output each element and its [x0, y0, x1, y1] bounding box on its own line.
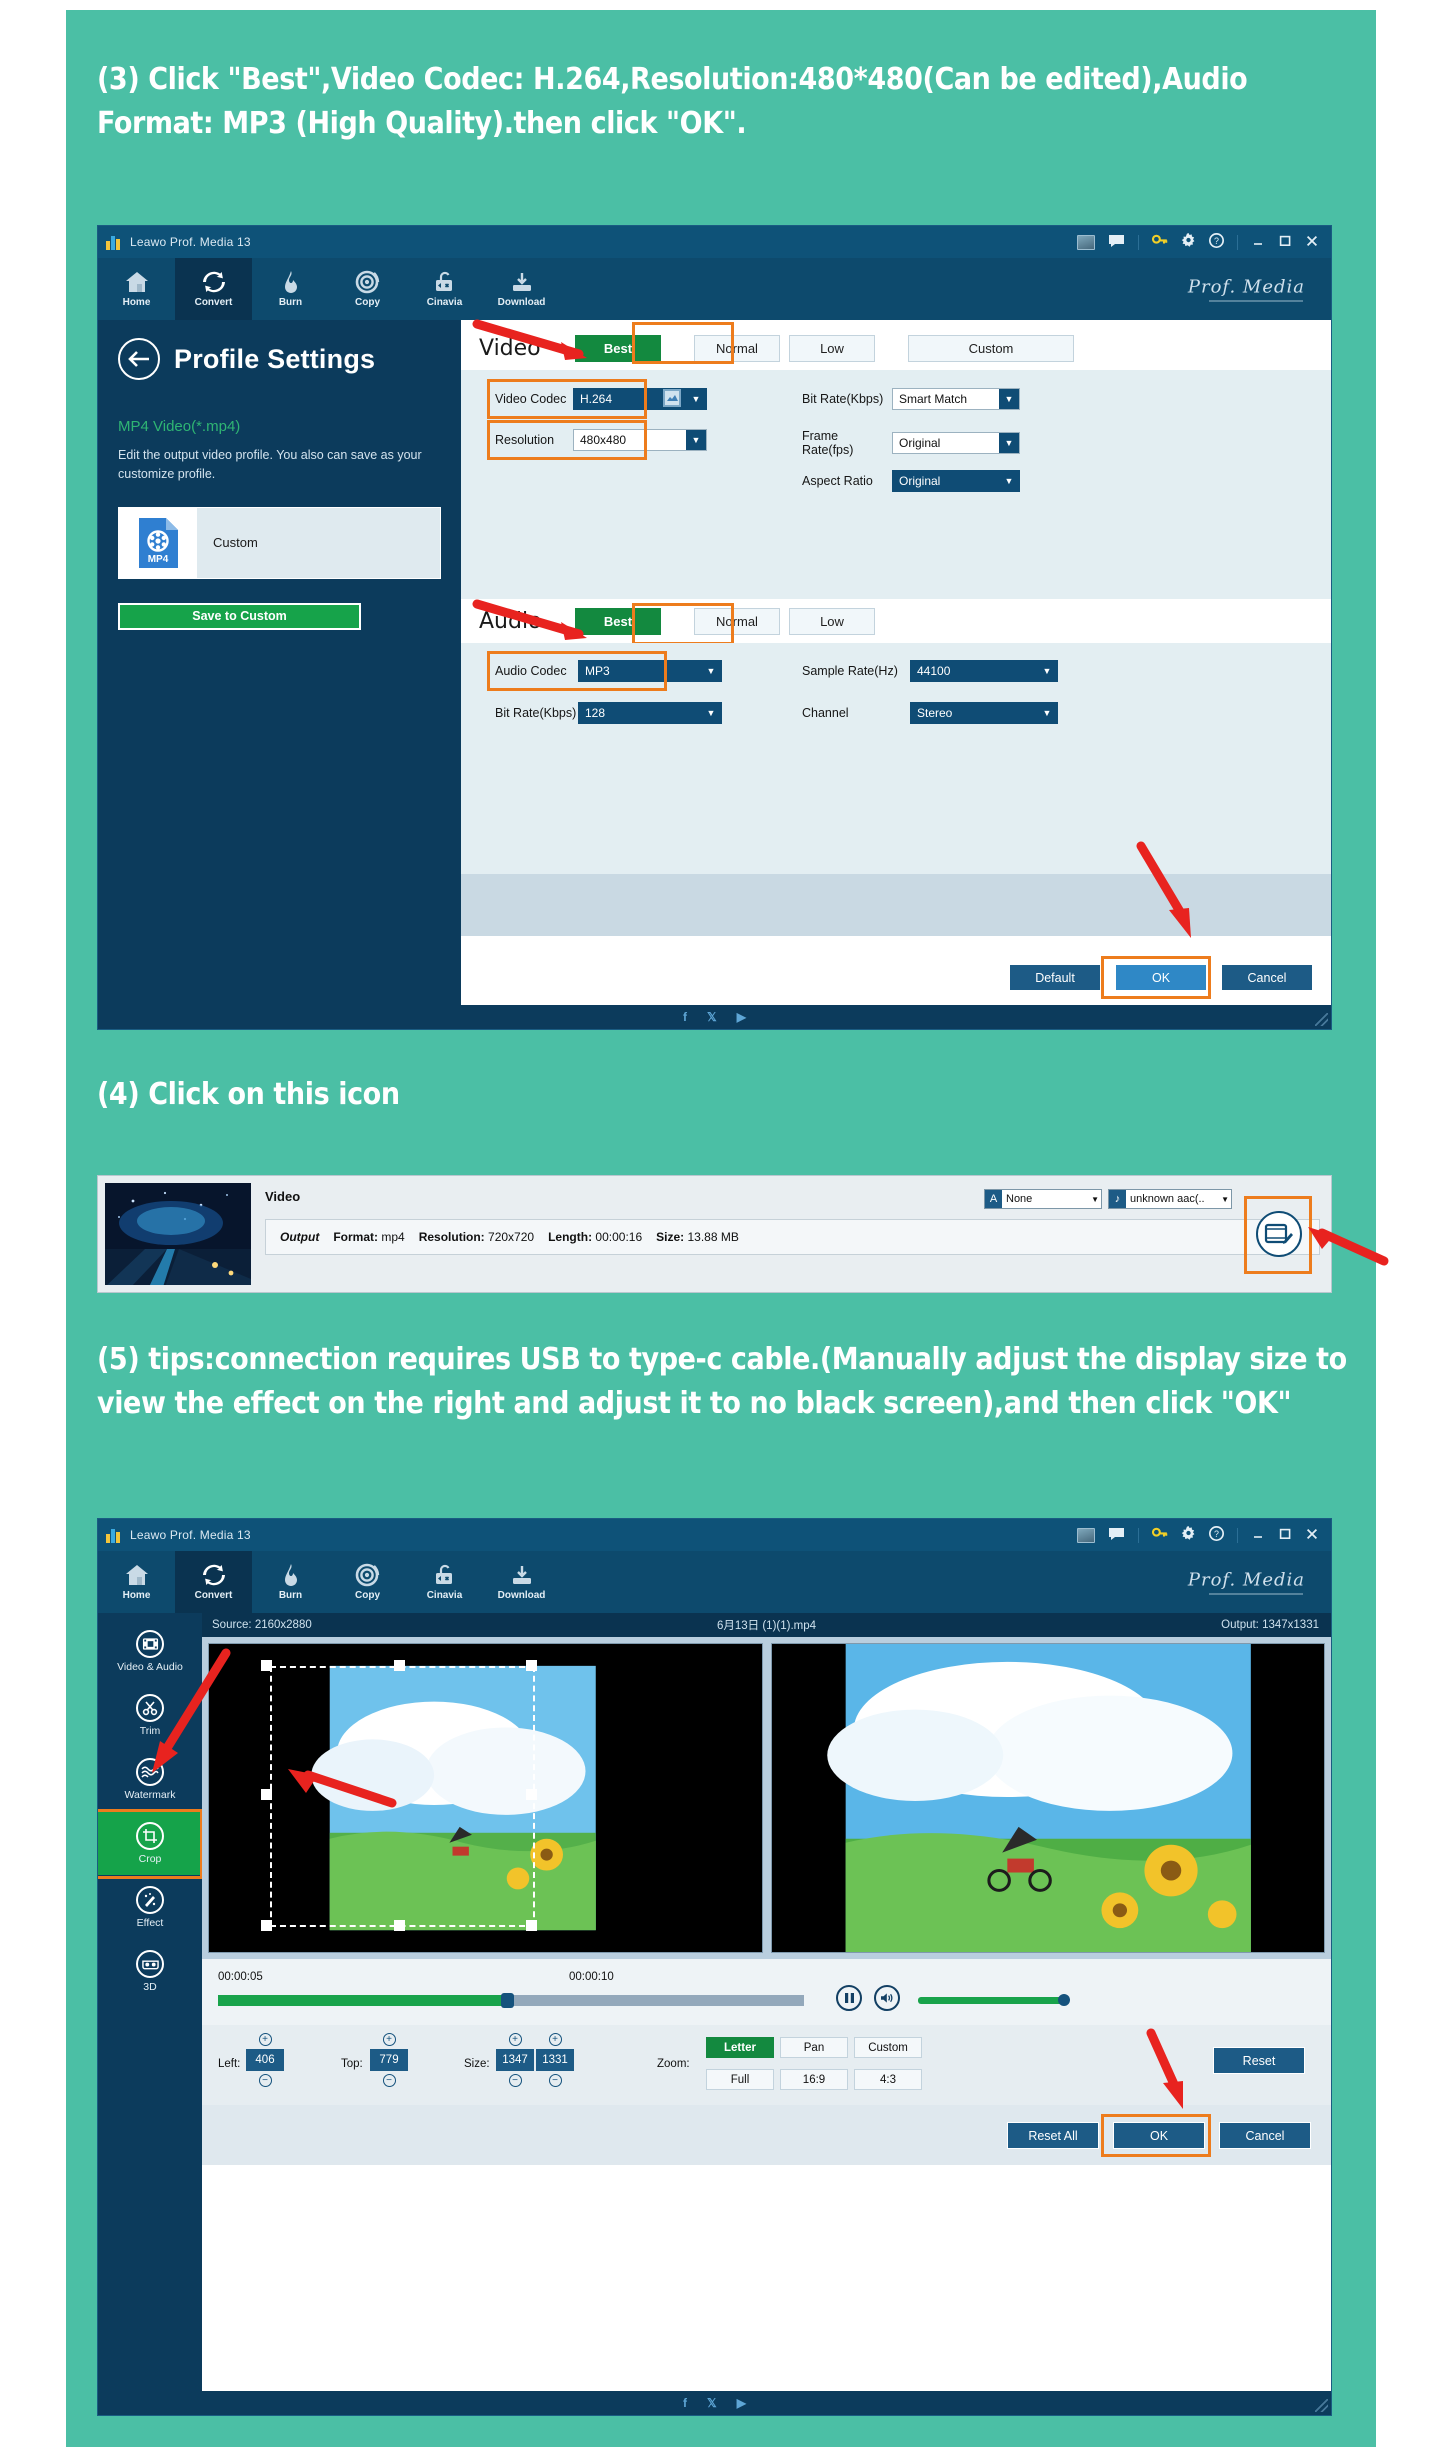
- framerate-label: Frame Rate(fps): [802, 429, 892, 457]
- bitrate-label: Bit Rate(Kbps): [802, 392, 892, 406]
- nav-download-label: Download: [498, 1590, 546, 1601]
- seek-fill: [218, 1995, 507, 2006]
- profile-settings-panel: Profile Settings MP4 Video(*.mp4) Edit t…: [98, 320, 461, 1005]
- profile-card[interactable]: MP4 Custom: [118, 507, 441, 579]
- nav-burn[interactable]: Burn: [252, 1551, 329, 1613]
- crop-editor-window: Leawo Prof. Media 13 ?: [97, 1518, 1332, 2416]
- crop-size-w-stepper[interactable]: + 1347 −: [496, 2033, 534, 2087]
- effect-icon: [136, 1886, 164, 1914]
- minus-icon[interactable]: −: [383, 2074, 396, 2087]
- highlight-resolution: [487, 420, 647, 460]
- audio-track-value: unknown aac(..: [1130, 1193, 1205, 1205]
- minimize-icon[interactable]: [1251, 234, 1265, 251]
- channel-label: Channel: [802, 706, 910, 720]
- output-label: Output: [280, 1230, 319, 1244]
- subtitle-icon: A: [985, 1190, 1002, 1208]
- key-icon[interactable]: [1152, 234, 1168, 251]
- reset-all-button[interactable]: Reset All: [1007, 2122, 1099, 2149]
- gear-icon[interactable]: [1181, 233, 1196, 251]
- crop-handle-bl[interactable]: [261, 1920, 272, 1931]
- sidebar-label: Video & Audio: [117, 1661, 183, 1673]
- crop-handle-ml[interactable]: [261, 1789, 272, 1800]
- channel-select[interactable]: Stereo▼: [910, 702, 1058, 724]
- zoom-letter[interactable]: Letter: [706, 2037, 774, 2058]
- bitrate-select[interactable]: Smart Match▼: [892, 388, 1020, 410]
- nav-burn[interactable]: Burn: [252, 258, 329, 320]
- audio-quality-row: Audio Best Normal Low: [461, 599, 1331, 643]
- video-task-row: Video Output Format: mp4 Resolution: 720…: [97, 1175, 1332, 1293]
- file-name: 6月13日 (1)(1).mp4: [717, 1617, 816, 1633]
- aspectratio-label: Aspect Ratio: [802, 474, 892, 488]
- window2-dialog-bar: Reset All OK Cancel: [202, 2105, 1331, 2165]
- highlight-ok-button: [1101, 956, 1211, 999]
- nav-convert-label: Convert: [195, 1590, 233, 1601]
- video-quality-low[interactable]: Low: [789, 335, 875, 362]
- plus-icon[interactable]: +: [549, 2033, 562, 2046]
- audio-bitrate-label: Bit Rate(Kbps): [495, 706, 578, 720]
- length-label: Length:: [548, 1230, 592, 1244]
- tutorial-page: (3) Click "Best",Video Codec: H.264,Reso…: [66, 10, 1376, 2447]
- window2-navbar: Home Convert Burn Copy Cinavia Download: [98, 1551, 1331, 1613]
- mp4-file-icon: MP4: [119, 507, 197, 579]
- plus-icon[interactable]: +: [383, 2033, 396, 2046]
- nav-cinavia-label: Cinavia: [427, 297, 463, 308]
- window1-title: Leawo Prof. Media 13: [130, 235, 251, 249]
- audio-section-label: Audio: [479, 609, 575, 634]
- framerate-select[interactable]: Original▼: [892, 432, 1020, 454]
- nav-convert[interactable]: Convert: [175, 1551, 252, 1613]
- key-icon[interactable]: [1152, 1527, 1168, 1544]
- crop-left-label: Left:: [218, 2058, 240, 2070]
- nav-burn-label: Burn: [279, 297, 302, 308]
- sidebar-item-3d[interactable]: 3D: [98, 1939, 202, 2003]
- seek-knob[interactable]: [501, 1993, 514, 2008]
- svg-text:MP4: MP4: [147, 554, 168, 565]
- crop-stage: Source: 2160x2880 6月13日 (1)(1).mp4 Outpu…: [202, 1613, 1331, 2391]
- svg-text:?: ?: [1214, 236, 1219, 246]
- highlight-crop-item: [97, 1809, 203, 1879]
- nav-download[interactable]: Download: [483, 258, 560, 320]
- svg-text:?: ?: [1214, 1529, 1219, 1539]
- zoom-4-3[interactable]: 4:3: [854, 2069, 922, 2090]
- window2-titlebar: Leawo Prof. Media 13 ?: [98, 1519, 1331, 1551]
- crop-handle-tc[interactable]: [394, 1660, 405, 1671]
- crop-handle-bc[interactable]: [394, 1920, 405, 1931]
- nav-convert-label: Convert: [195, 297, 233, 308]
- subtitle-select[interactable]: A None ▼: [984, 1189, 1102, 1209]
- highlight-audio-best: [632, 603, 734, 645]
- volume-fill: [918, 1997, 1064, 2004]
- profile-fields-panel: Video Best Normal Low Custom Video Codec: [461, 320, 1331, 1005]
- preview-panes: [202, 1637, 1331, 1959]
- resolution-info-label: Resolution:: [419, 1230, 485, 1244]
- window1-titlebar: Leawo Prof. Media 13 ?: [98, 226, 1331, 258]
- help-icon[interactable]: ?: [1209, 233, 1224, 251]
- minus-icon[interactable]: −: [549, 2074, 562, 2087]
- three-d-icon: [136, 1950, 164, 1978]
- nav-copy[interactable]: Copy: [329, 1551, 406, 1613]
- nav-convert[interactable]: Convert: [175, 258, 252, 320]
- nav-download-label: Download: [498, 297, 546, 308]
- app-logo-icon: [106, 1528, 122, 1543]
- nav-copy[interactable]: Copy: [329, 258, 406, 320]
- profile-description: Edit the output video profile. You also …: [118, 446, 441, 485]
- youtube-icon[interactable]: ▶: [737, 2396, 746, 2410]
- size-label: Size:: [656, 1230, 684, 1244]
- sidebar-item-watermark[interactable]: Watermark: [98, 1747, 202, 1811]
- close-icon[interactable]: [1305, 1527, 1319, 1544]
- plus-icon[interactable]: +: [509, 2033, 522, 2046]
- nav-download[interactable]: Download: [483, 1551, 560, 1613]
- sidebar-item-video-audio[interactable]: Video & Audio: [98, 1619, 202, 1683]
- aspectratio-select[interactable]: Original▼: [892, 470, 1020, 492]
- maximize-icon[interactable]: [1278, 1527, 1292, 1544]
- step4-instruction: (4) Click on this icon: [97, 1073, 400, 1117]
- close-icon[interactable]: [1305, 234, 1319, 251]
- sidebar-label: Effect: [137, 1917, 164, 1929]
- default-button[interactable]: Default: [1009, 964, 1101, 991]
- nav-cinavia-label: Cinavia: [427, 1590, 463, 1601]
- window1-navbar: Home Convert Burn Copy Cinavia Download: [98, 258, 1331, 320]
- zoom-label: Zoom:: [657, 2058, 690, 2070]
- nav-burn-label: Burn: [279, 1590, 302, 1601]
- codec-settings-icon[interactable]: [662, 388, 682, 408]
- crop-left-value[interactable]: 406: [246, 2049, 284, 2071]
- crop-size-w-value[interactable]: 1347: [496, 2049, 534, 2071]
- crop-handle-tl[interactable]: [261, 1660, 272, 1671]
- cancel-button[interactable]: Cancel: [1219, 2122, 1311, 2149]
- crop-left-stepper[interactable]: + 406 −: [246, 2033, 284, 2087]
- nav-home[interactable]: Home: [98, 1551, 175, 1613]
- video-section-label: Video: [479, 336, 575, 361]
- scissors-icon: [136, 1694, 164, 1722]
- sidebar-label: 3D: [143, 1981, 156, 1993]
- window2-footer: f 𝕏 ▶: [98, 2391, 1331, 2415]
- profile-settings-window: Leawo Prof. Media 13 ?: [97, 225, 1332, 1030]
- profile-card-label: Custom: [213, 535, 258, 550]
- crop-selection[interactable]: [270, 1666, 535, 1928]
- cancel-button[interactable]: Cancel: [1221, 964, 1313, 991]
- back-arrow-icon[interactable]: [118, 338, 160, 380]
- crop-size-h-value[interactable]: 1331: [536, 2049, 574, 2071]
- crop-size-h-stepper[interactable]: + 1331 −: [536, 2033, 574, 2087]
- video-quality-custom[interactable]: Custom: [908, 335, 1074, 362]
- highlight-edit-icon: [1244, 1196, 1312, 1274]
- sidebar-label: Watermark: [125, 1789, 176, 1801]
- music-note-icon: ♪: [1109, 1190, 1126, 1208]
- total-time: 00:00:10: [569, 1971, 614, 1983]
- page-title: Profile Settings: [174, 344, 375, 375]
- nav-cinavia[interactable]: Cinavia: [406, 258, 483, 320]
- crop-top-label: Top:: [341, 2058, 363, 2070]
- video-output-info: Output Format: mp4 Resolution: 720x720 L…: [265, 1219, 1320, 1255]
- window1-footer: f 𝕏 ▶: [98, 1005, 1331, 1029]
- nav-copy-label: Copy: [355, 297, 380, 308]
- sidebar-item-trim[interactable]: Trim: [98, 1683, 202, 1747]
- zoom-full[interactable]: Full: [706, 2069, 774, 2090]
- audio-quality-low[interactable]: Low: [789, 608, 875, 635]
- video-quality-row: Video Best Normal Low Custom: [461, 326, 1331, 370]
- sidebar-label: Trim: [140, 1725, 161, 1737]
- brand-mark: Prof. Media: [1188, 1570, 1305, 1595]
- audio-track-select[interactable]: ♪ unknown aac(.. ▼: [1108, 1189, 1232, 1209]
- save-to-custom-button[interactable]: Save to Custom: [118, 603, 361, 630]
- edit-tools-sidebar: Video & Audio Trim Watermark: [98, 1613, 202, 2391]
- playback-timeline: 00:00:05 00:00:10: [202, 1959, 1331, 2025]
- facebook-icon[interactable]: f: [683, 2396, 687, 2410]
- crop-controls-bar: Left: + 406 − Top: + 779 − Size: +: [202, 2025, 1331, 2105]
- video-thumbnail: [105, 1183, 251, 1285]
- facebook-icon[interactable]: f: [683, 1010, 687, 1024]
- subtitle-value: None: [1006, 1193, 1032, 1205]
- highlight-ok-button: [1101, 2114, 1211, 2157]
- profile-format-label: MP4 Video(*.mp4): [118, 418, 441, 435]
- format-value: mp4: [381, 1230, 404, 1244]
- gear-icon[interactable]: [1181, 1526, 1196, 1544]
- highlight-video-codec: [487, 379, 647, 419]
- resize-grip[interactable]: [1315, 1013, 1328, 1026]
- crop-handle-tr[interactable]: [526, 1660, 537, 1671]
- app-logo-icon: [106, 235, 122, 250]
- highlight-video-best: [632, 322, 734, 364]
- brand-mark: Prof. Media: [1188, 277, 1305, 302]
- minus-icon[interactable]: −: [509, 2074, 522, 2087]
- highlight-audio-codec: [487, 651, 667, 691]
- minus-icon[interactable]: −: [259, 2074, 272, 2087]
- minimize-icon[interactable]: [1251, 1527, 1265, 1544]
- crop-top-value[interactable]: 779: [370, 2049, 408, 2071]
- size-value: 13.88 MB: [688, 1230, 739, 1244]
- source-resolution: Source: 2160x2880: [212, 1619, 312, 1631]
- x-icon[interactable]: 𝕏: [707, 1010, 717, 1024]
- output-preview: [771, 1643, 1326, 1953]
- zoom-16-9[interactable]: 16:9: [780, 2069, 848, 2090]
- samplerate-select[interactable]: 44100▼: [910, 660, 1058, 682]
- crop-handle-mr[interactable]: [526, 1789, 537, 1800]
- volume-icon[interactable]: [874, 1985, 900, 2011]
- step5-instruction: (5) tips:connection requires USB to type…: [97, 1338, 1362, 1425]
- zoom-pan[interactable]: Pan: [780, 2037, 848, 2058]
- resize-grip[interactable]: [1315, 2399, 1328, 2412]
- thumbnail-icon[interactable]: [1077, 235, 1095, 250]
- feedback-icon[interactable]: [1108, 234, 1125, 251]
- video-fields-area: Video Codec H.264▼ Resolution 480x480▼: [461, 370, 1331, 501]
- feedback-icon[interactable]: [1108, 1527, 1125, 1544]
- waves-icon: [136, 1758, 164, 1786]
- resolution-info-value: 720x720: [488, 1230, 534, 1244]
- thumbnail-icon[interactable]: [1077, 1528, 1095, 1543]
- format-label: Format:: [333, 1230, 378, 1244]
- x-icon[interactable]: 𝕏: [707, 2396, 717, 2410]
- nav-home-label: Home: [123, 1590, 151, 1601]
- pause-icon[interactable]: [836, 1985, 862, 2011]
- current-time: 00:00:05: [218, 1971, 263, 1983]
- crop-top-stepper[interactable]: + 779 −: [370, 2033, 408, 2087]
- crop-size-label: Size:: [464, 2058, 490, 2070]
- source-output-bar: Source: 2160x2880 6月13日 (1)(1).mp4 Outpu…: [202, 1613, 1331, 1637]
- volume-knob[interactable]: [1058, 1994, 1070, 2006]
- crop-handle-br[interactable]: [526, 1920, 537, 1931]
- samplerate-label: Sample Rate(Hz): [802, 664, 910, 678]
- nav-copy-label: Copy: [355, 1590, 380, 1601]
- step3-instruction: (3) Click "Best",Video Codec: H.264,Reso…: [97, 58, 1352, 145]
- source-preview[interactable]: [208, 1643, 763, 1953]
- reset-button[interactable]: Reset: [1213, 2047, 1305, 2074]
- audio-fields-area: Audio Codec MP3▼ Bit Rate(Kbps) 128▼ Sam: [461, 643, 1331, 751]
- length-value: 00:00:16: [595, 1230, 642, 1244]
- sidebar-item-effect[interactable]: Effect: [98, 1875, 202, 1939]
- nav-home[interactable]: Home: [98, 258, 175, 320]
- window2-title: Leawo Prof. Media 13: [130, 1528, 251, 1542]
- audio-bitrate-select[interactable]: 128▼: [578, 702, 722, 724]
- nav-home-label: Home: [123, 297, 151, 308]
- help-icon[interactable]: ?: [1209, 1526, 1224, 1544]
- youtube-icon[interactable]: ▶: [737, 1010, 746, 1024]
- nav-cinavia[interactable]: Cinavia: [406, 1551, 483, 1613]
- plus-icon[interactable]: +: [259, 2033, 272, 2046]
- film-icon: [136, 1630, 164, 1658]
- zoom-custom[interactable]: Custom: [854, 2037, 922, 2058]
- output-resolution: Output: 1347x1331: [1221, 1619, 1319, 1631]
- maximize-icon[interactable]: [1278, 234, 1292, 251]
